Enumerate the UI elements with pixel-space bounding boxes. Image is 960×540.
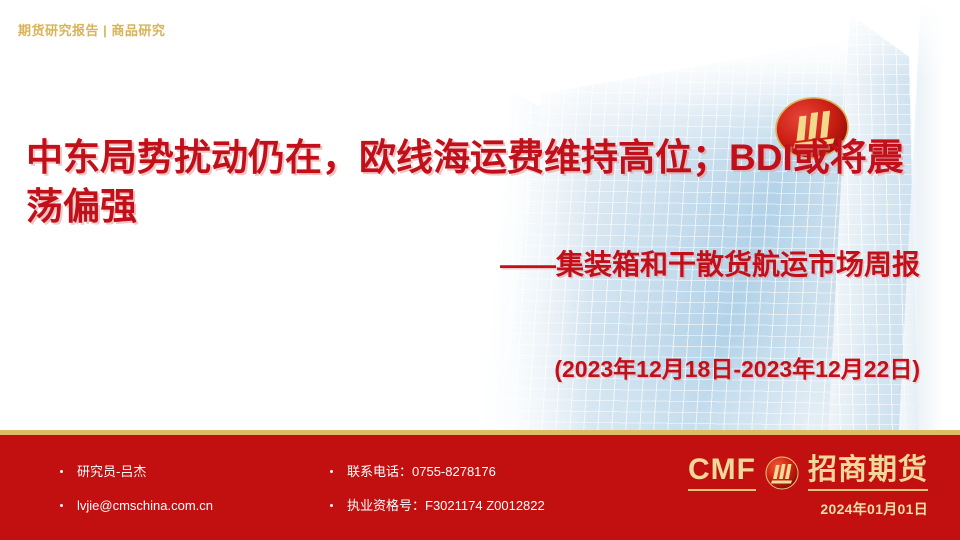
- page-title: 中东局势扰动仍在，欧线海运费维持高位；BDI或将震荡偏强: [26, 134, 906, 232]
- logo-mark-text: CMF: [688, 455, 756, 491]
- report-date-range: (2023年12月18日-2023年12月22日): [0, 350, 920, 384]
- contact-column-researcher: 研究员-吕杰 lvjie@cmschina.com.cn: [60, 465, 213, 533]
- contact-line: lvjie@cmschina.com.cn: [60, 499, 213, 512]
- contact-column-details: 联系电话：0755-8278176 执业资格号：F3021174 Z001282…: [330, 465, 545, 533]
- report-category-kicker: 期货研究报告 | 商品研究: [18, 20, 165, 39]
- contact-line: 执业资格号：F3021174 Z0012822: [330, 499, 545, 512]
- cmf-badge-icon: [765, 456, 799, 490]
- license-number: 执业资格号：F3021174 Z0012822: [347, 499, 545, 512]
- researcher-name: 研究员-吕杰: [77, 465, 146, 478]
- researcher-email[interactable]: lvjie@cmschina.com.cn: [77, 499, 213, 512]
- bullet-icon: [60, 470, 63, 473]
- logo-company-name: 招商期货: [808, 456, 928, 491]
- bullet-icon: [330, 470, 333, 473]
- report-cover-slide: 期货研究报告 | 商品研究 中东局势扰动仍在，欧线海运费维持高位；BDI或将震荡…: [0, 0, 960, 540]
- photo-top-fade: [470, 0, 960, 80]
- contact-phone: 联系电话：0755-8278176: [347, 465, 496, 478]
- logo-row: CMF 招商期货: [688, 455, 928, 491]
- bullet-icon: [330, 504, 333, 507]
- footer-bar: 研究员-吕杰 lvjie@cmschina.com.cn 联系电话：0755-8…: [0, 435, 960, 540]
- contact-line: 联系电话：0755-8278176: [330, 465, 545, 478]
- publish-date: 2024年01月01日: [820, 499, 928, 519]
- company-logo: CMF 招商期货 2024: [688, 455, 928, 519]
- contact-line: 研究员-吕杰: [60, 465, 213, 478]
- report-subtitle: ——集装箱和干散货航运市场周报: [0, 243, 920, 283]
- bullet-icon: [60, 504, 63, 507]
